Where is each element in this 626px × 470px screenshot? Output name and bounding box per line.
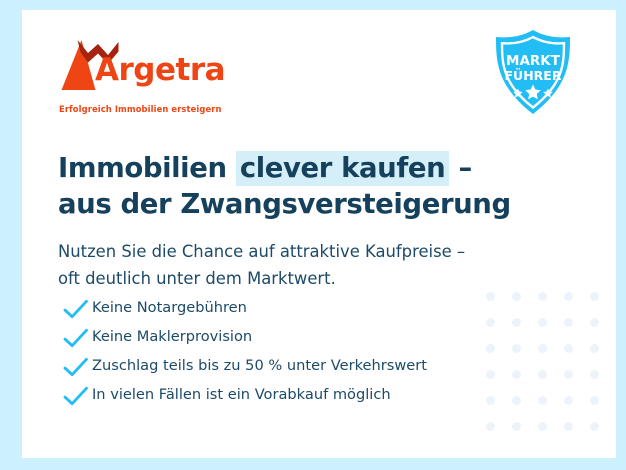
decorative-dot: [512, 396, 521, 405]
argetra-logo[interactable]: Argetra Erfolgreich Immobilien ersteiger…: [58, 38, 228, 114]
decorative-dot: [564, 396, 573, 405]
badge-line-1: MARKT: [506, 53, 561, 69]
headline-line-1: Immobilien clever kaufen –: [58, 150, 528, 186]
list-item-label: In vielen Fällen ist ein Vorabkauf mögli…: [92, 388, 391, 403]
decorative-dot: [486, 422, 495, 431]
decorative-dot: [512, 292, 521, 301]
decorative-dot: [590, 344, 599, 353]
list-item: In vielen Fällen ist ein Vorabkauf mögli…: [60, 381, 500, 410]
decorative-dot: [512, 344, 521, 353]
list-item: Keine Maklerprovision: [60, 323, 500, 352]
check-icon: [60, 356, 92, 378]
decorative-dot: [590, 422, 599, 431]
headline-line-2: aus der Zwangsversteigerung: [58, 186, 528, 222]
decorative-dot: [512, 422, 521, 431]
banner-card: Argetra Erfolgreich Immobilien ersteiger…: [22, 10, 616, 458]
headline-highlight: clever kaufen: [236, 151, 450, 186]
list-item: Keine Notargebühren: [60, 294, 500, 323]
headline: Immobilien clever kaufen – aus der Zwang…: [58, 150, 528, 222]
benefits-checklist: Keine Notargebühren Keine Maklerprovisio…: [60, 294, 500, 410]
subheadline: Nutzen Sie die Chance auf attraktive Kau…: [58, 238, 538, 292]
decorative-dot: [590, 370, 599, 379]
list-item-label: Keine Notargebühren: [92, 301, 247, 316]
logo-tagline: Erfolgreich Immobilien ersteigern: [59, 104, 222, 114]
subheadline-line-1: Nutzen Sie die Chance auf attraktive Kau…: [58, 238, 538, 265]
decorative-dot: [590, 396, 599, 405]
check-icon: [60, 327, 92, 349]
markt-fuehrer-badge: MARKT FÜHRER: [492, 28, 574, 116]
decorative-dot: [564, 422, 573, 431]
decorative-dot: [538, 318, 547, 327]
decorative-dot: [564, 344, 573, 353]
decorative-dot: [538, 396, 547, 405]
subheadline-line-2: oft deutlich unter dem Marktwert.: [58, 265, 538, 292]
check-icon: [60, 385, 92, 407]
decorative-dot: [538, 292, 547, 301]
decorative-dot: [590, 318, 599, 327]
logo-wordmark: Argetra: [95, 55, 225, 86]
list-item-label: Keine Maklerprovision: [92, 330, 252, 345]
decorative-dot: [538, 344, 547, 353]
decorative-dot: [512, 370, 521, 379]
list-item: Zuschlag teils bis zu 50 % unter Verkehr…: [60, 352, 500, 381]
check-icon: [60, 298, 92, 320]
decorative-dot: [564, 318, 573, 327]
badge-line-2: FÜHRER: [505, 68, 562, 83]
decorative-dot: [512, 318, 521, 327]
list-item-label: Zuschlag teils bis zu 50 % unter Verkehr…: [92, 359, 427, 374]
decorative-dot: [564, 370, 573, 379]
promo-banner: Argetra Erfolgreich Immobilien ersteiger…: [0, 0, 626, 470]
decorative-dot: [590, 292, 599, 301]
decorative-dot: [538, 422, 547, 431]
decorative-dot: [564, 292, 573, 301]
headline-text-after: –: [449, 152, 472, 184]
headline-text-before: Immobilien: [58, 152, 236, 184]
decorative-dot: [538, 370, 547, 379]
